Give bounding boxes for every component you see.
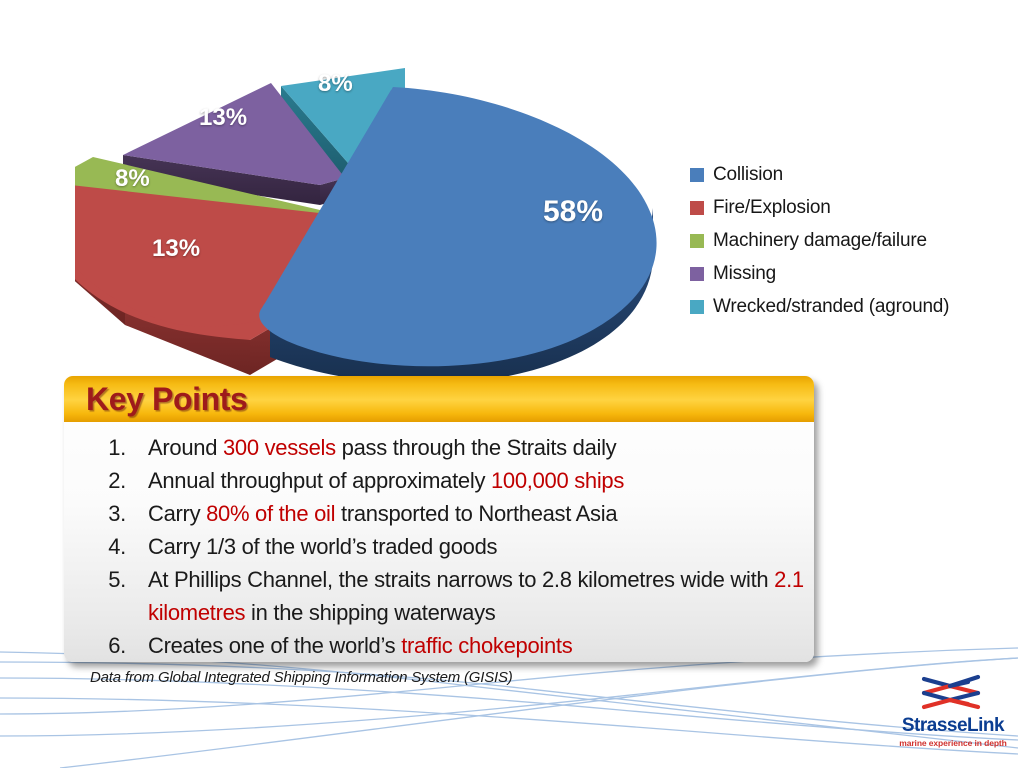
list-item-number: 4. bbox=[64, 530, 126, 563]
list-item: 4. Carry 1/3 of the world’s traded goods bbox=[64, 530, 814, 563]
legend-item-missing: Missing bbox=[690, 257, 1000, 290]
legend-label: Fire/Explosion bbox=[713, 197, 831, 219]
legend-swatch-icon bbox=[690, 300, 704, 314]
key-points-panel: Key Points 1. Around 300 vessels pass th… bbox=[64, 376, 814, 662]
list-item-text: Carry 1/3 of the world’s traded goods bbox=[126, 530, 814, 563]
legend-label: Machinery damage/failure bbox=[713, 230, 927, 252]
legend-swatch-icon bbox=[690, 234, 704, 248]
slide-canvas: 58% 13% 8% 13% 8% Collision Fire/Explosi… bbox=[0, 0, 1018, 768]
legend-label: Collision bbox=[713, 164, 783, 186]
list-item: 6. Creates one of the world’s traffic ch… bbox=[64, 629, 814, 662]
list-item-text: Carry 80% of the oil transported to Nort… bbox=[126, 497, 814, 530]
source-caption: Data from Global Integrated Shipping Inf… bbox=[90, 669, 513, 686]
legend-swatch-icon bbox=[690, 201, 704, 215]
list-item-number: 5. bbox=[64, 563, 126, 596]
logo-tagline: marine experience in depth bbox=[893, 738, 1013, 748]
legend-item-machinery-damage: Machinery damage/failure bbox=[690, 224, 1000, 257]
list-item-number: 2. bbox=[64, 464, 126, 497]
list-item: 3. Carry 80% of the oil transported to N… bbox=[64, 497, 814, 530]
strasselink-logo: StrasseLink marine experience in depth bbox=[893, 672, 1013, 754]
legend-item-fire-explosion: Fire/Explosion bbox=[690, 191, 1000, 224]
list-item-text: At Phillips Channel, the straits narrows… bbox=[126, 563, 814, 629]
list-item: 5. At Phillips Channel, the straits narr… bbox=[64, 563, 814, 629]
logo-name: StrasseLink bbox=[893, 715, 1013, 737]
list-item-number: 3. bbox=[64, 497, 126, 530]
key-points-title: Key Points bbox=[86, 381, 247, 418]
legend-label: Missing bbox=[713, 263, 776, 285]
legend-swatch-icon bbox=[690, 168, 704, 182]
list-item-number: 6. bbox=[64, 629, 126, 662]
list-item-text: Creates one of the world’s traffic choke… bbox=[126, 629, 814, 662]
list-item: 2. Annual throughput of approximately 10… bbox=[64, 464, 814, 497]
list-item-text: Around 300 vessels pass through the Stra… bbox=[126, 431, 814, 464]
pie-chart: 58% 13% 8% 13% 8% bbox=[75, 45, 675, 385]
legend-label: Wrecked/stranded (aground) bbox=[713, 296, 949, 318]
list-item-number: 1. bbox=[64, 431, 126, 464]
legend-item-collision: Collision bbox=[690, 158, 1000, 191]
pie-chart-svg bbox=[75, 45, 675, 385]
key-points-list: 1. Around 300 vessels pass through the S… bbox=[64, 422, 814, 662]
legend-item-wrecked-stranded: Wrecked/stranded (aground) bbox=[690, 290, 1000, 323]
legend-swatch-icon bbox=[690, 267, 704, 281]
list-item-text: Annual throughput of approximately 100,0… bbox=[126, 464, 814, 497]
list-item: 1. Around 300 vessels pass through the S… bbox=[64, 431, 814, 464]
chart-legend: Collision Fire/Explosion Machinery damag… bbox=[690, 158, 1000, 323]
key-points-header: Key Points bbox=[64, 376, 814, 422]
strasselink-logo-mark-icon bbox=[916, 672, 990, 714]
